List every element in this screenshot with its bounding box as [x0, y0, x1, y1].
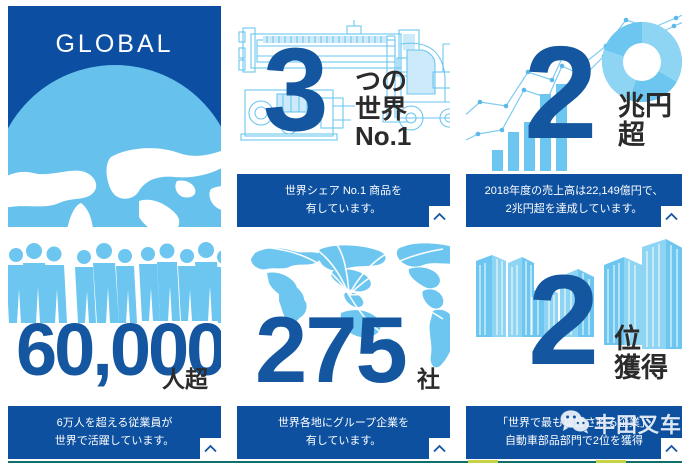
stat-unit-line1: 社 [417, 367, 440, 391]
caption-line-1: 2018年度の売上高は22,149億円で、 [472, 182, 676, 200]
stat-unit: 位 獲得 [614, 325, 668, 382]
panel-employees: 60,000 人超 6万人を超える従業員が 世界で活躍しています。 [0, 231, 229, 463]
caption-line-1: 「世界で最も賞賛される企業」 [472, 414, 676, 432]
loom-and-forklift-icon: 3 つの 世界No.1 [237, 6, 450, 174]
group-companies-card: 275 社 世界各地にグループ企業を 有しています。 [237, 237, 450, 459]
stat-number: 2 [524, 42, 595, 145]
revenue-card: 2 兆円 超 2018年度の売上高は22,149億円で、 2兆円超を達成していま… [466, 6, 682, 227]
employees-card: 60,000 人超 6万人を超える従業員が 世界で活躍しています。 [8, 237, 221, 459]
chevron-up-icon[interactable] [200, 438, 221, 459]
panel-caption: 6万人を超える従業員が 世界で活躍しています。 [8, 406, 221, 459]
caption-line-1: 6万人を超える従業員が [14, 414, 215, 432]
stat-unit-line1: 位 [614, 325, 668, 354]
stat-unit: 兆円 超 [618, 92, 672, 149]
stat-unit-line2: 世界No.1 [355, 96, 450, 151]
global-card: GLOBAL グローバル [8, 6, 221, 227]
stat-unit-line1: 兆円 [618, 92, 672, 121]
stat-unit: 人超 [162, 367, 208, 391]
globe-icon [8, 61, 221, 227]
stat-unit: 社 [417, 367, 440, 391]
caption-line-1: 世界各地にグループ企業を [243, 414, 444, 432]
panel-grid: GLOBAL グローバル [0, 0, 690, 463]
page-title: GLOBAL [55, 32, 173, 57]
caption-line-1: 世界シェア No.1 商品を [243, 182, 444, 200]
stat-unit-line1: 人超 [162, 367, 208, 391]
chevron-up-icon[interactable] [661, 438, 682, 459]
panel-caption: 世界シェア No.1 商品を 有しています。 [237, 174, 450, 227]
ranking-card: 2 位 獲得 「世界で最も賞賛される企業」 自動車部品部門で2位を獲得 [466, 237, 682, 459]
chevron-up-icon[interactable] [661, 206, 682, 227]
stat-unit-line2: 獲得 [614, 354, 668, 383]
chevron-up-icon[interactable] [429, 438, 450, 459]
stat-number: 275 [255, 313, 406, 386]
panel-revenue: 2 兆円 超 2018年度の売上高は22,149億円で、 2兆円超を達成していま… [458, 0, 690, 231]
world-map-icon: 275 社 [237, 237, 450, 406]
people-silhouettes-icon: 60,000 人超 [8, 237, 221, 406]
caption-line-2: 有しています。 [243, 200, 444, 218]
panel-caption: 2018年度の売上高は22,149億円で、 2兆円超を達成しています。 [466, 174, 682, 227]
city-buildings-icon: 2 位 獲得 [466, 237, 682, 406]
stat-number: 3 [263, 44, 327, 136]
charts-icon: 2 兆円 超 [466, 6, 682, 174]
caption-line-2: 世界で活躍しています。 [14, 432, 215, 450]
panel-caption: 世界各地にグループ企業を 有しています。 [237, 406, 450, 459]
world-no1-card: 3 つの 世界No.1 世界シェア No.1 商品を 有しています。 [237, 6, 450, 227]
panel-ranking: 2 位 獲得 「世界で最も賞賛される企業」 自動車部品部門で2位を獲得 [458, 231, 690, 463]
panel-global: GLOBAL グローバル [0, 0, 229, 231]
caption-line-2: 自動車部品部門で2位を獲得 [472, 432, 676, 450]
caption-line-2: 2兆円超を達成しています。 [472, 200, 676, 218]
stat-number: 2 [528, 271, 597, 371]
stat-unit: つの 世界No.1 [355, 68, 450, 151]
stat-unit-line1: つの [355, 68, 450, 96]
infographic-root: GLOBAL グローバル [0, 0, 690, 463]
panel-caption: 「世界で最も賞賛される企業」 自動車部品部門で2位を獲得 [466, 406, 682, 459]
caption-line-2: 有しています。 [243, 432, 444, 450]
stat-unit-line2: 超 [618, 121, 672, 150]
panel-group-companies: 275 社 世界各地にグループ企業を 有しています。 [229, 231, 458, 463]
chevron-up-icon[interactable] [429, 206, 450, 227]
panel-world-no1: 3 つの 世界No.1 世界シェア No.1 商品を 有しています。 [229, 0, 458, 231]
